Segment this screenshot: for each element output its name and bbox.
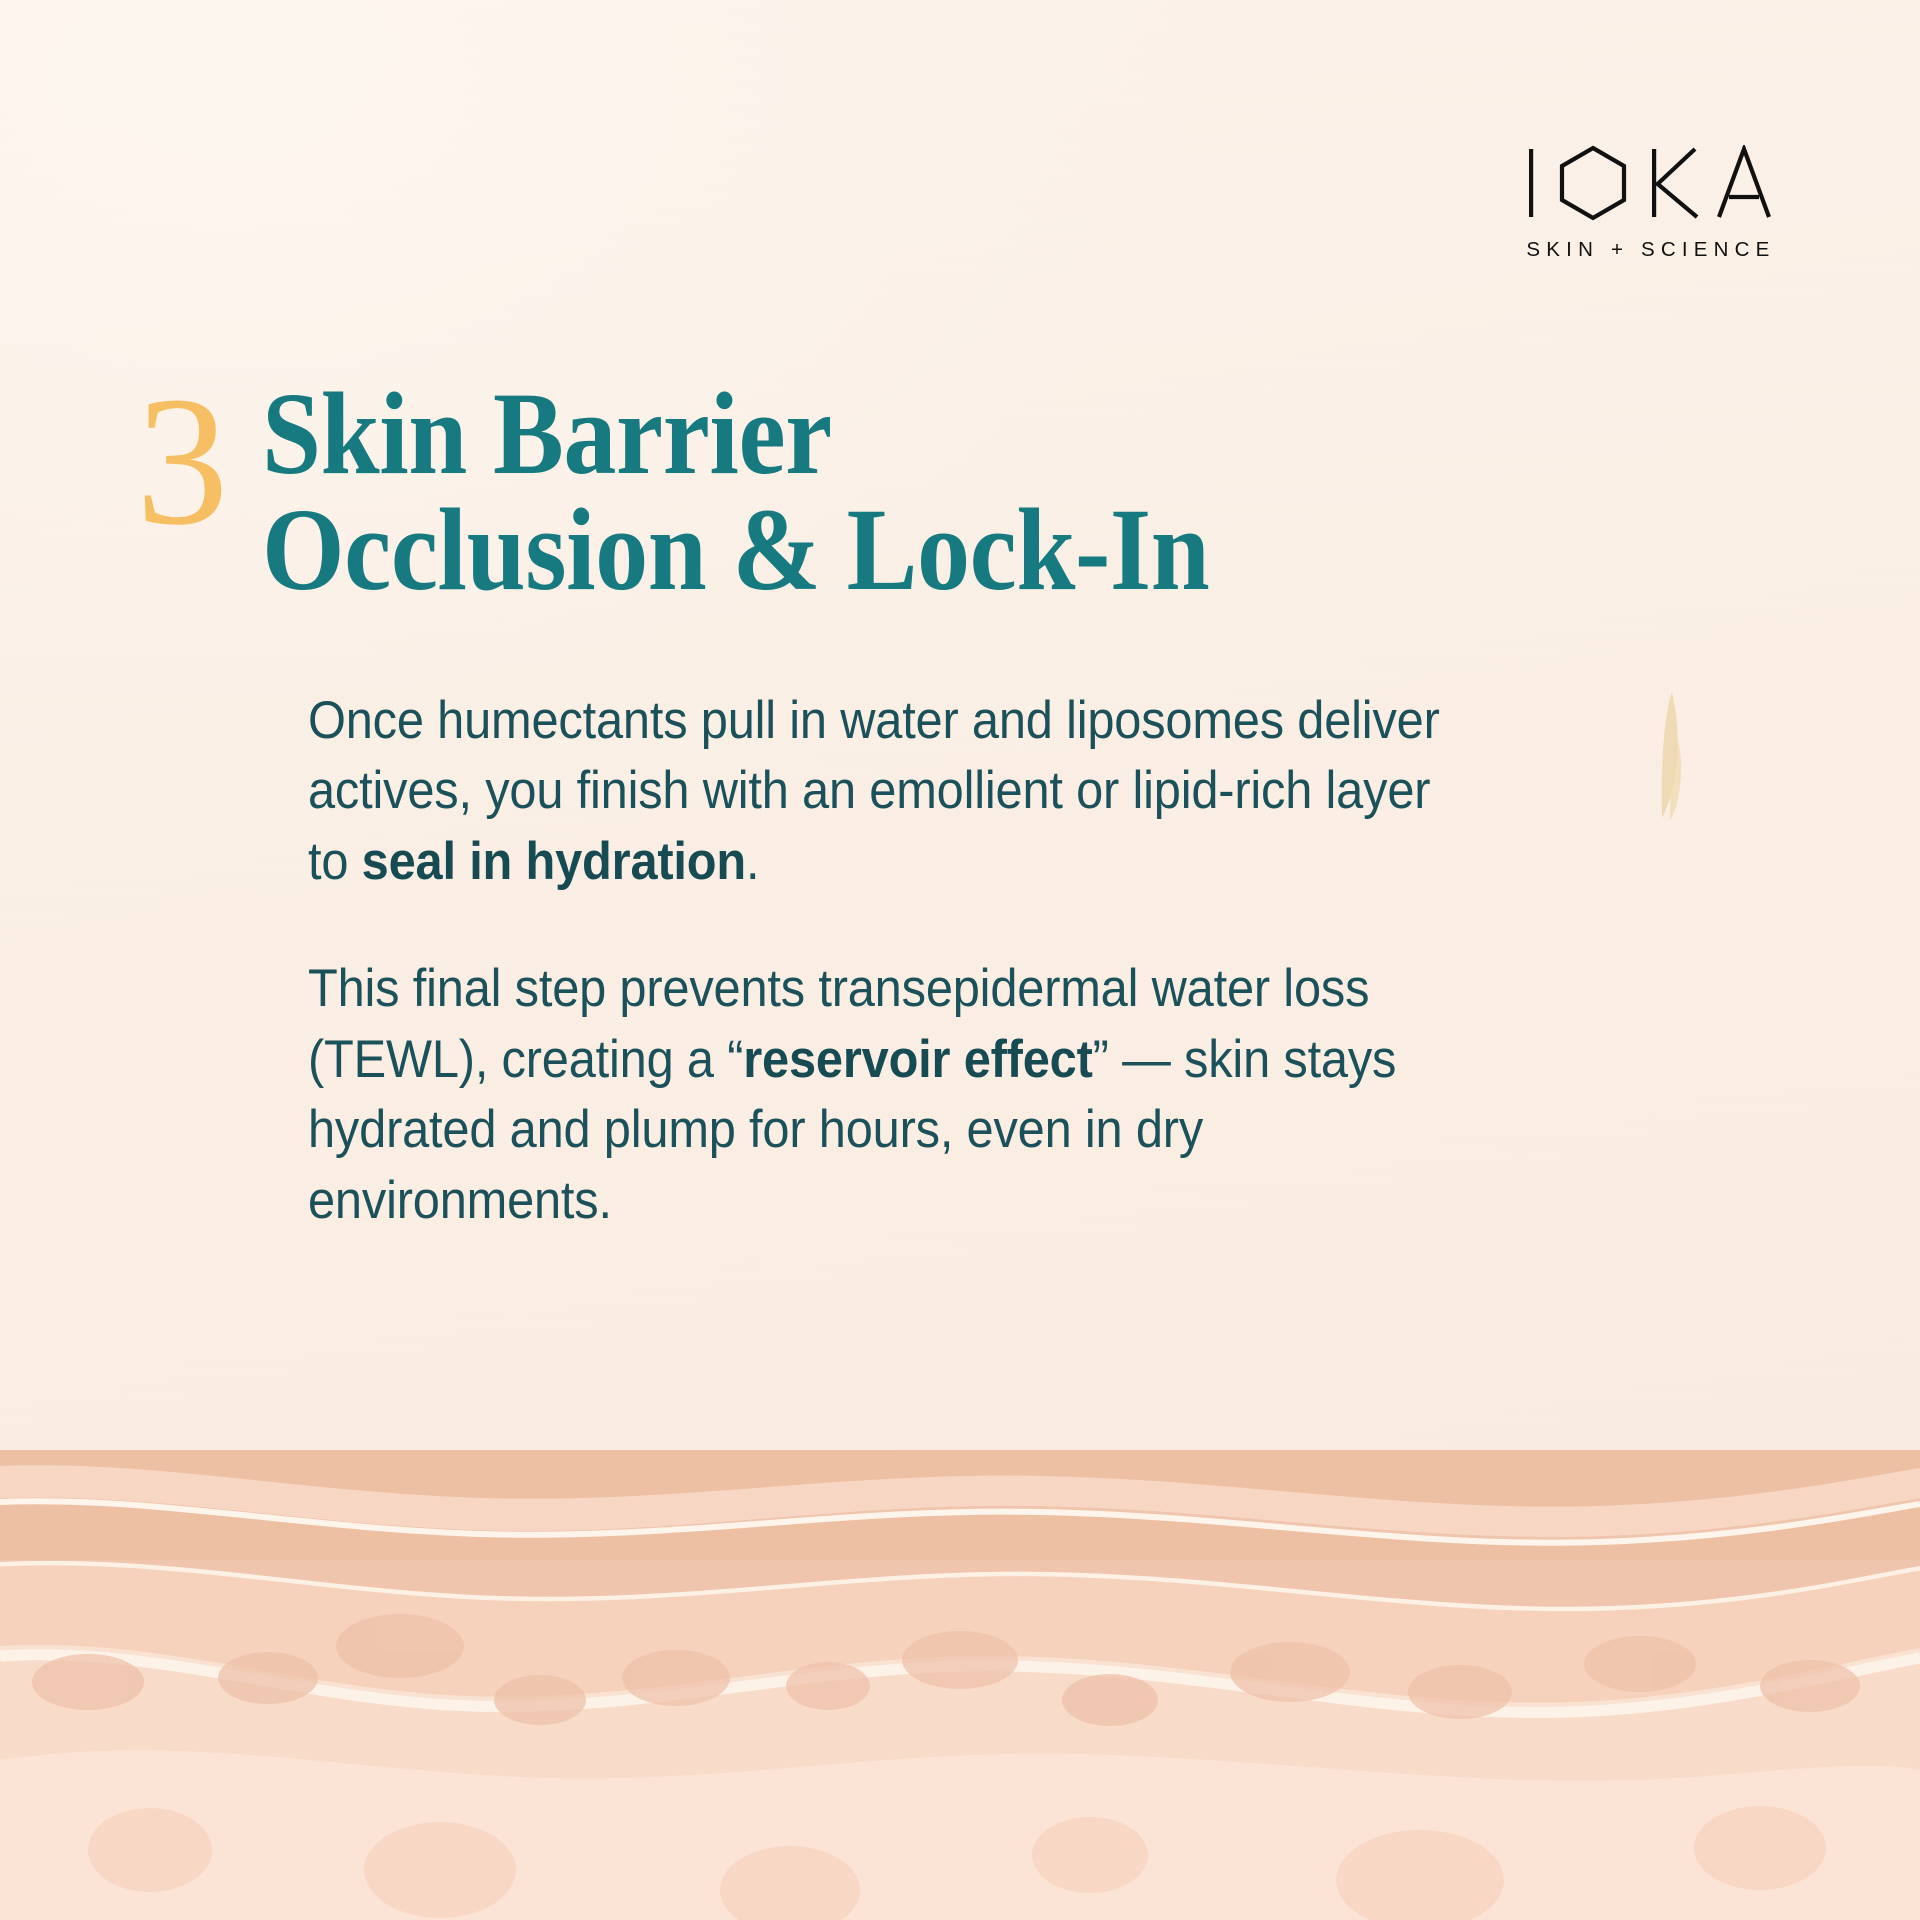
ioka-logo-icon (1523, 145, 1773, 221)
paragraph-1-part-2: . (746, 832, 759, 891)
paragraph-2: This final step prevents transepidermal … (308, 954, 1467, 1236)
slide-canvas: SKIN + SCIENCE 3 Skin Barrier Occlusion … (0, 0, 1920, 1920)
page-title: Skin Barrier Occlusion & Lock-In (262, 376, 1209, 607)
headline-row: 3 Skin Barrier Occlusion & Lock-In (122, 382, 1740, 607)
logo-tagline: SKIN + SCIENCE (1498, 238, 1798, 262)
body-copy: Once humectants pull in water and liposo… (308, 686, 1468, 1236)
brand-logo: SKIN + SCIENCE (1498, 148, 1798, 262)
paragraph-1: Once humectants pull in water and liposo… (308, 686, 1467, 897)
hexagon-o-icon (1562, 148, 1624, 218)
logo-wordmark (1498, 148, 1798, 218)
skin-top-edge (0, 1440, 1920, 1560)
step-number: 3 (122, 382, 262, 541)
paragraph-1-emphasis: seal in hydration (362, 832, 746, 891)
gold-petal-icon (1663, 740, 1693, 820)
paragraph-2-emphasis: reservoir effect (743, 1030, 1092, 1089)
gold-petal-icon (1650, 690, 1690, 820)
